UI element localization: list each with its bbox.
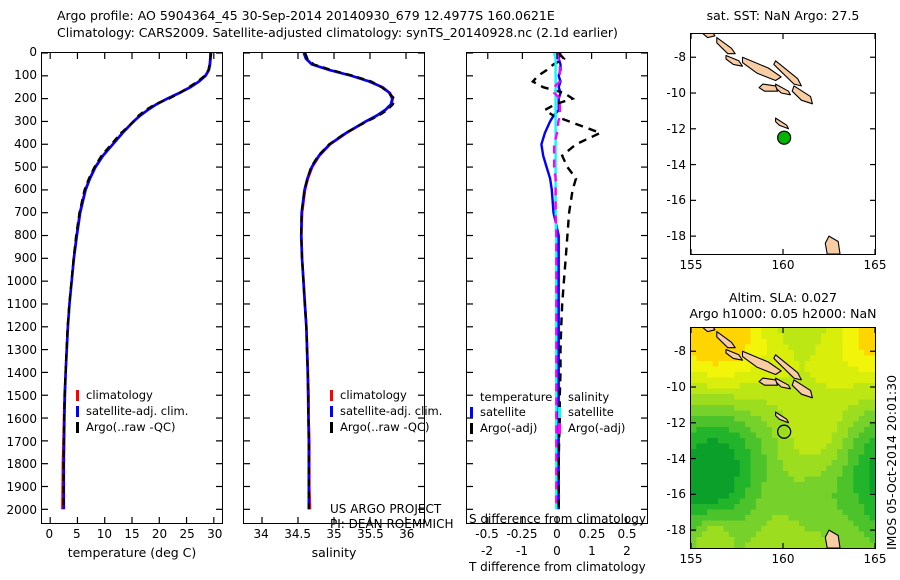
axis-tick-label: 500 [14,160,41,174]
axis-tick-label: 2000 [6,503,41,517]
sla-map-panel [690,327,876,549]
difference-temperature-axis-label: T difference from climatology [469,560,646,574]
legend-group: salinitysatelliteArgo(-adj) [558,390,609,437]
credits-line2: PI: DEAN ROEMMICH [330,517,453,531]
legend-label: satellite [480,405,526,419]
axis-tick-label: -1 [516,541,528,558]
axis-tick-label: 300 [14,114,41,128]
axis-tick-label: -0.25 [506,524,537,541]
axis-tick-label: 1900 [6,480,41,494]
axis-tick-label: 10 [97,524,112,541]
legend-color-swatch [330,422,333,433]
axis-tick-label: -18 [666,523,690,537]
axis-tick-label: -8 [674,344,690,358]
axis-tick-label: 0.5 [617,524,636,541]
axis-tick-label: 2 [623,541,631,558]
axis-tick-label: 0 [553,541,561,558]
axis-tick-label: 200 [14,91,41,105]
axis-tick-label: 15 [124,524,139,541]
legend-color-swatch [558,423,561,434]
legend-color-swatch [76,390,79,401]
page-title-line2: Climatology: CARS2009. Satellite-adjuste… [57,25,618,40]
sla-map-title-line2: Argo h1000: 0.05 h2000: NaN [689,306,876,321]
axis-tick-label: 160 [772,255,795,272]
legend-color-swatch [330,390,333,401]
axis-tick-label: -2 [481,541,493,558]
legend-label: satellite [568,405,614,419]
legend-group-title: temperature [480,390,552,405]
salinity-panel [243,52,425,524]
axis-tick-label: 1500 [6,389,41,403]
legend-item: Argo(-adj) [558,421,609,437]
legend-label: Argo(-adj) [568,421,625,435]
legend-label: Argo(-adj) [480,421,537,435]
sst-map-title: sat. SST: NaN Argo: 27.5 [707,8,860,23]
legend-item: Argo(-adj) [470,421,552,437]
axis-tick-label: -10 [666,86,690,100]
legend-item: satellite [558,405,609,421]
axis-tick-label: -14 [666,158,690,172]
legend-label: satellite-adj. clim. [86,404,188,418]
axis-tick-label: 1200 [6,320,41,334]
axis-tick-label: 20 [152,524,167,541]
axis-tick-label: 1000 [6,274,41,288]
salinity-xaxis-label: salinity [312,545,357,560]
axis-tick-label: -8 [674,50,690,64]
axis-tick-label: 1400 [6,366,41,380]
axis-tick-label: -14 [666,452,690,466]
axis-tick-label: 700 [14,205,41,219]
axis-tick-label: 165 [864,255,887,272]
sst-map-panel [690,33,876,255]
temperature-xaxis-label: temperature (deg C) [68,545,197,560]
legend-color-swatch [76,406,79,417]
credits-line1: US ARGO PROJECT [330,502,441,516]
temperature-panel [41,52,223,524]
axis-tick-label: 1100 [6,297,41,311]
axis-tick-label: -12 [666,122,690,136]
legend-group-title: salinity [568,390,609,405]
legend-label: climatology [86,388,153,402]
axis-tick-label: 1 [588,541,596,558]
difference-panel [466,52,648,524]
legend-color-swatch [76,422,79,433]
axis-tick-label: 0 [553,524,561,541]
legend-color-swatch [470,407,473,418]
page-title-line1: Argo profile: AO 5904364_45 30-Sep-2014 … [57,8,555,23]
axis-tick-label: 34 [254,524,269,541]
imos-watermark: IMOS 05-Oct-2014 20:01:30 [884,550,900,565]
axis-tick-label: 100 [14,68,41,82]
axis-tick-label: 1700 [6,435,41,449]
axis-tick-label: -12 [666,416,690,430]
axis-tick-label: 1600 [6,412,41,426]
axis-tick-label: 155 [680,549,703,566]
legend-color-swatch [330,406,333,417]
legend-group: temperaturesatelliteArgo(-adj) [470,390,552,437]
axis-tick-label: 160 [772,549,795,566]
axis-tick-label: 0.25 [579,524,606,541]
axis-tick-label: -0.5 [475,524,498,541]
axis-tick-label: -10 [666,380,690,394]
axis-tick-label: 400 [14,137,41,151]
legend-color-swatch [558,407,561,418]
axis-tick-label: -18 [666,229,690,243]
axis-tick-label: 5 [73,524,81,541]
axis-tick-label: -16 [666,487,690,501]
legend-label: satellite-adj. clim. [340,404,442,418]
axis-tick-label: 155 [680,255,703,272]
legend-label: Argo(..raw -QC) [86,420,176,434]
imos-watermark-text: IMOS 05-Oct-2014 20:01:30 [884,375,899,550]
axis-tick-label: 25 [180,524,195,541]
axis-tick-label: 900 [14,251,41,265]
difference-salinity-axis-label: S difference from climatology [469,512,646,526]
axis-tick-label: 0 [29,45,41,59]
axis-tick-label: 34.5 [284,524,311,541]
axis-tick-label: 600 [14,182,41,196]
legend-label: Argo(..raw -QC) [340,420,430,434]
axis-tick-label: 800 [14,228,41,242]
sla-map-title-line1: Altim. SLA: 0.027 [729,290,837,305]
axis-tick-label: 1300 [6,343,41,357]
axis-tick-label: 30 [207,524,222,541]
legend-item: satellite [470,405,552,421]
legend-label: climatology [340,388,407,402]
axis-tick-label: 0 [45,524,53,541]
axis-tick-label: -16 [666,193,690,207]
axis-tick-label: 1800 [6,457,41,471]
legend-color-swatch [470,423,473,434]
